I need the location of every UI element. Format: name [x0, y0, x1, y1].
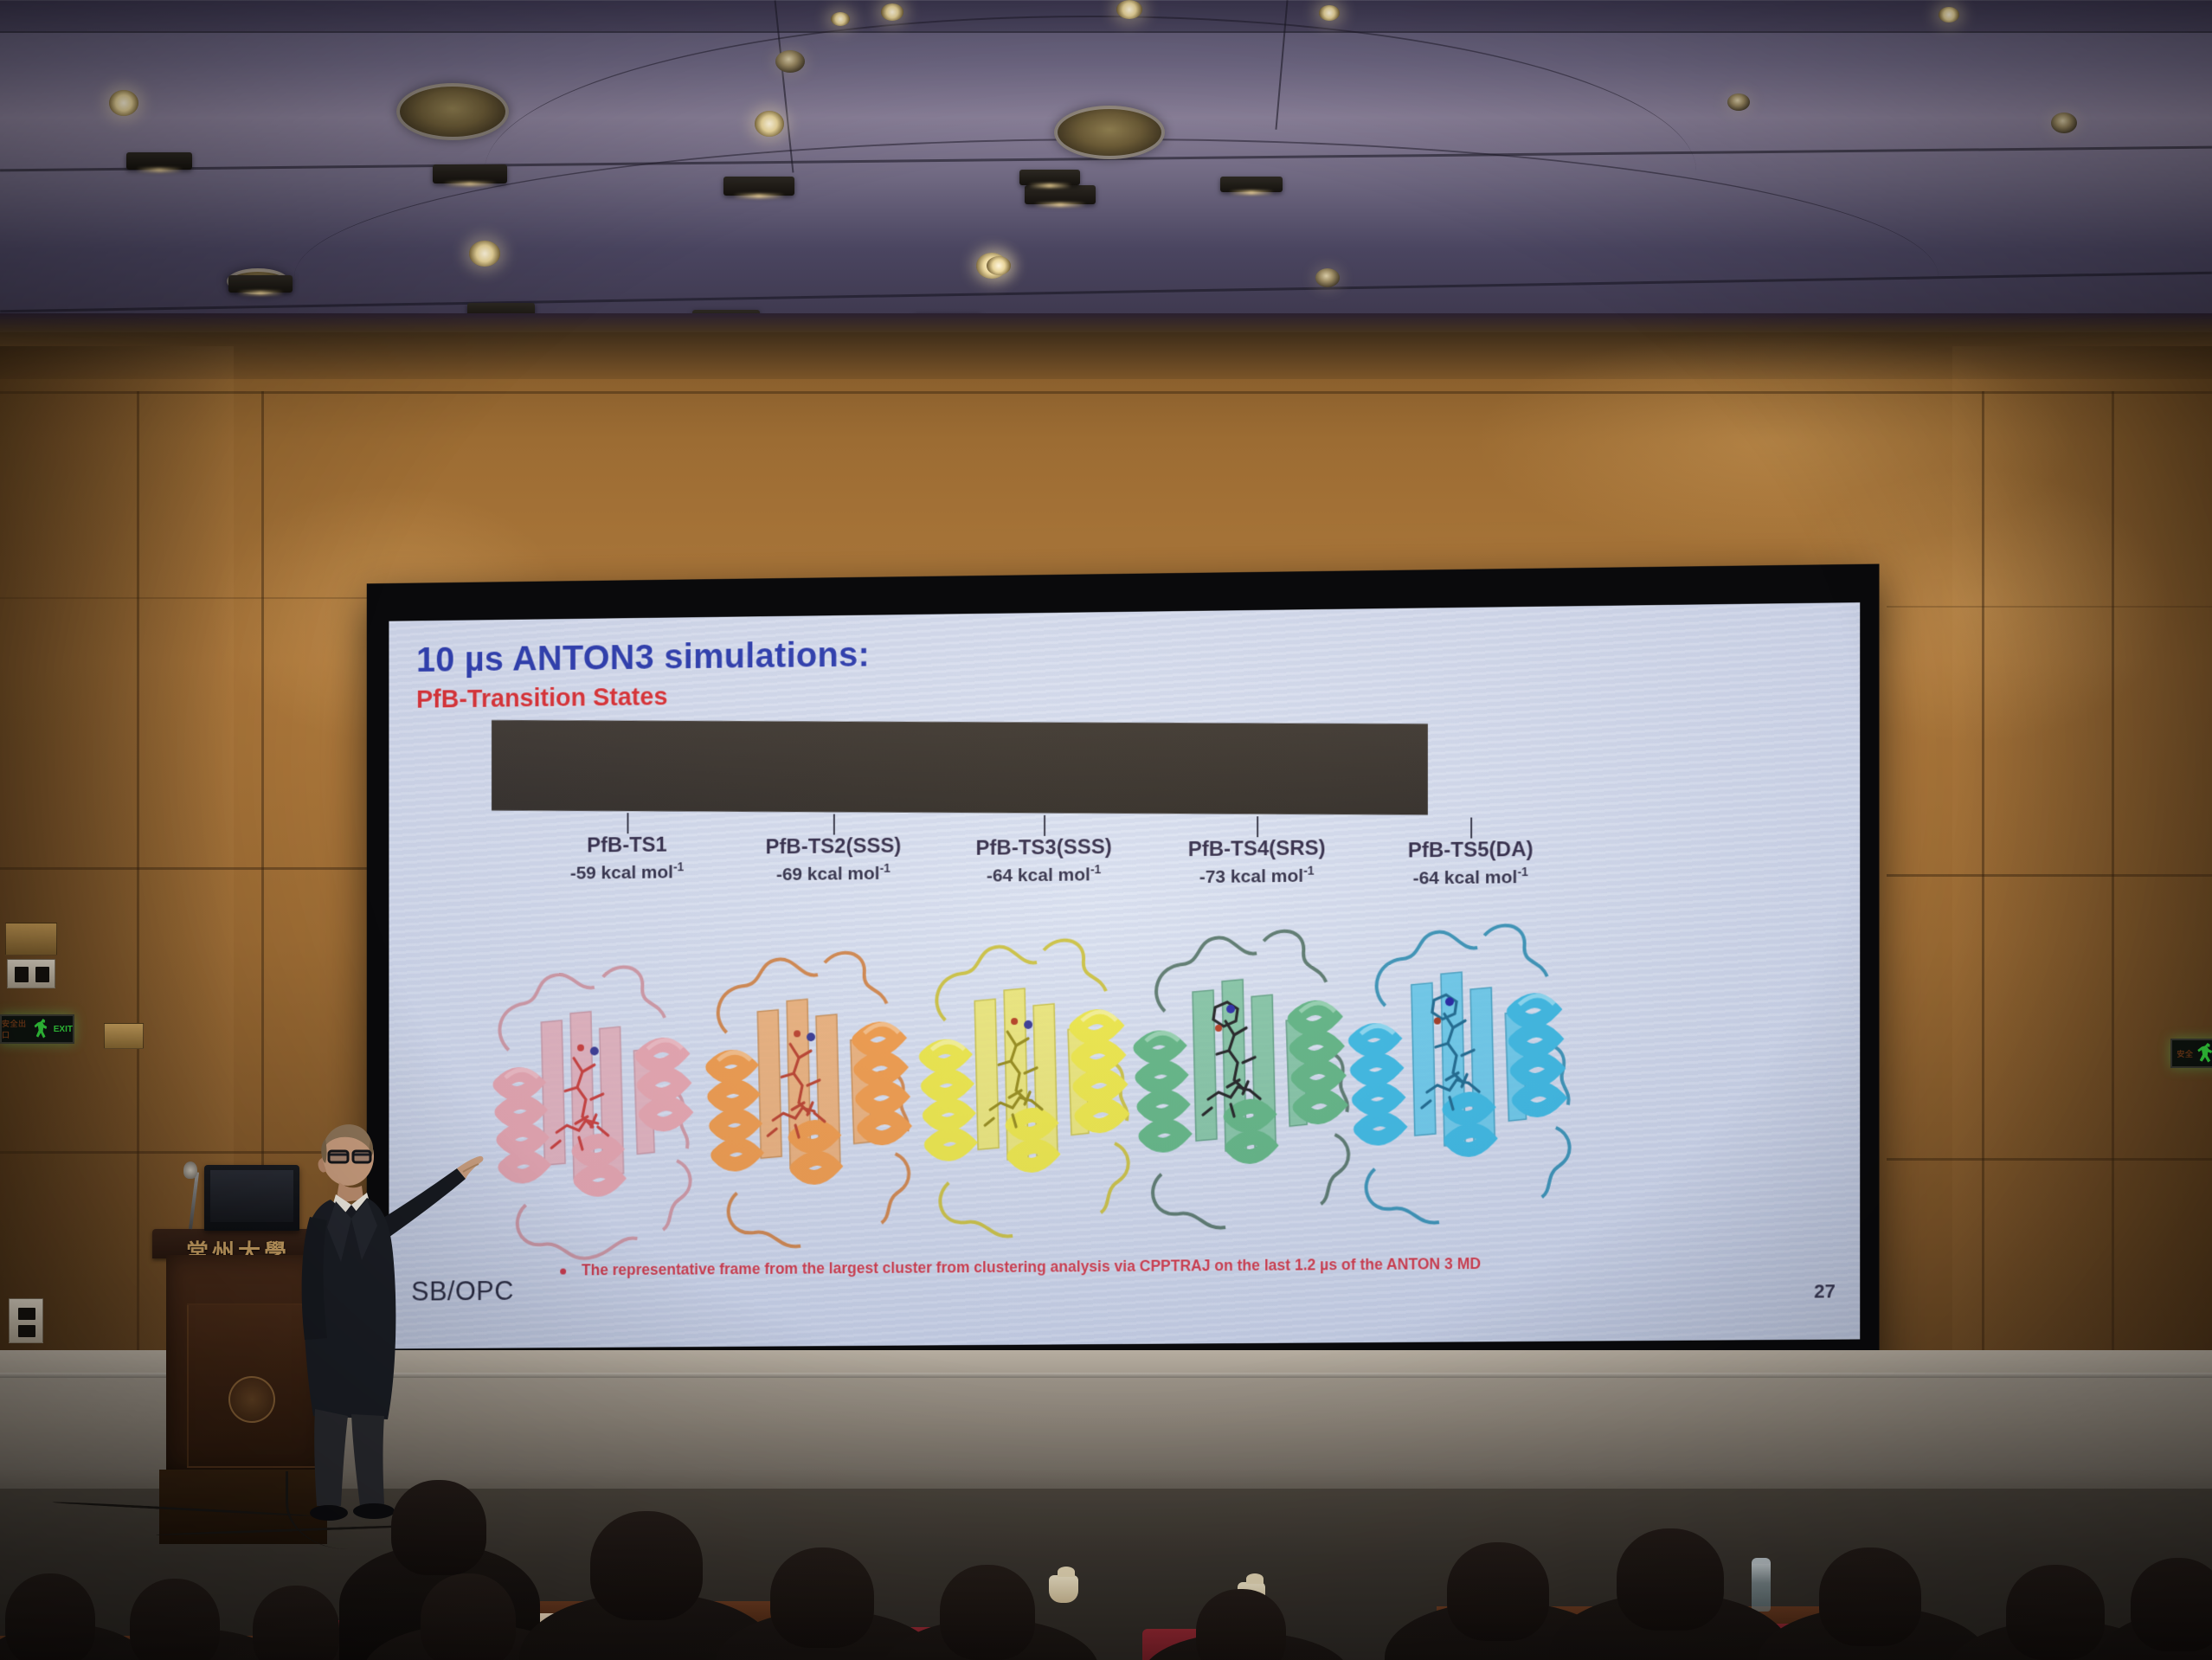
wall-seam: [1887, 606, 2212, 608]
audience-person-head: [2006, 1565, 2105, 1660]
presenter-laptop[interactable]: [204, 1165, 299, 1231]
ceiling-downlight: [2051, 113, 2077, 133]
exit-sign-right: 安全 EXIT: [2170, 1039, 2212, 1068]
exit-sign-prefix-label: 安全: [2177, 1048, 2193, 1059]
university-emblem-icon: [228, 1376, 275, 1423]
wall-seam-vertical: [1982, 391, 1984, 1404]
audience-person-head: [253, 1586, 339, 1660]
audience-person-head: [770, 1547, 874, 1648]
audience-person-head: [5, 1573, 95, 1660]
bullet-dot-icon: [560, 1268, 566, 1274]
ceiling-spot-light: [1939, 7, 1959, 23]
ceiling-spot-light: [469, 241, 500, 267]
ceiling-spot-light: [109, 90, 138, 116]
wall-seam: [0, 867, 372, 870]
running-man-icon: [2196, 1043, 2212, 1064]
fire-alarm-box[interactable]: [5, 923, 57, 955]
wall-light-glow: [1471, 329, 2077, 554]
wall-seam: [1887, 874, 2212, 877]
audience-person-head: [130, 1579, 220, 1660]
wall-outlet-plate[interactable]: [9, 1298, 43, 1343]
track-light-fixture: [1019, 170, 1080, 185]
wall-seam-vertical: [137, 391, 139, 1395]
protein-structure-row: [389, 776, 1860, 1275]
audience-person-head: [1447, 1542, 1549, 1641]
ceiling-spot-light: [1319, 5, 1340, 21]
track-light-fixture: [433, 164, 507, 183]
tea-cup: [1049, 1575, 1078, 1603]
recessed-light: [396, 83, 509, 140]
audience-person-head: [421, 1573, 516, 1660]
audience-person-head: [2131, 1558, 2212, 1651]
auditorium-scene: 安全出口 EXIT 安全 EXIT 10 µs ANTON3 simulatio…: [0, 0, 2212, 1660]
ceiling-downlight: [1727, 93, 1750, 111]
exit-sign-prefix-label: 安全出口: [2, 1018, 30, 1040]
audience-area: [0, 1471, 2212, 1660]
ceiling-downlight: [775, 50, 805, 73]
wall-seam: [0, 597, 372, 599]
wall-seam-vertical: [2112, 391, 2114, 1404]
audience-person-head: [1617, 1528, 1724, 1631]
audience-person-head: [391, 1480, 486, 1575]
wall-switch-plate[interactable]: [7, 959, 55, 988]
exit-sign-label: EXIT: [54, 1025, 73, 1034]
track-light-fixture: [1220, 177, 1283, 192]
ceiling-spot-light: [881, 3, 903, 21]
microphone-head-icon: [183, 1161, 197, 1179]
presenter-person: [287, 1115, 486, 1530]
slide-subtitle: PfB-Transition States: [416, 683, 667, 714]
ceiling-spot-light: [831, 12, 850, 26]
slide-title: 10 µs ANTON3 simulations:: [416, 636, 870, 680]
audience-person-head: [590, 1511, 703, 1620]
presentation-slide: 10 µs ANTON3 simulations: PfB-Transition…: [389, 602, 1860, 1348]
track-light-fixture: [126, 152, 192, 170]
ceiling-downlight: [1315, 268, 1340, 287]
ceiling-spot-light: [755, 111, 784, 137]
track-light-fixture: [723, 177, 794, 196]
track-light-fixture: [228, 275, 293, 293]
wall-seam: [1887, 1158, 2212, 1161]
audience-person-head: [1819, 1547, 1921, 1646]
wall-seam: [0, 391, 2212, 394]
wall-mounted-box[interactable]: [104, 1023, 144, 1049]
wall-shadow-band: [0, 313, 2212, 332]
audience-person-head: [1196, 1589, 1286, 1660]
track-light-fixture: [1025, 185, 1096, 204]
projection-screen: 10 µs ANTON3 simulations: PfB-Transition…: [367, 564, 1880, 1384]
ceiling-spot-light: [987, 256, 1011, 275]
ceiling-spot-light: [1116, 0, 1142, 19]
water-bottle: [1752, 1558, 1771, 1612]
audience-person-head: [940, 1565, 1035, 1660]
recessed-light: [1054, 106, 1165, 159]
running-man-icon: [33, 1019, 51, 1039]
exit-sign-left: 安全出口 EXIT: [0, 1014, 74, 1044]
slide-number: 27: [1814, 1280, 1836, 1303]
laptop-screen: [210, 1170, 293, 1222]
